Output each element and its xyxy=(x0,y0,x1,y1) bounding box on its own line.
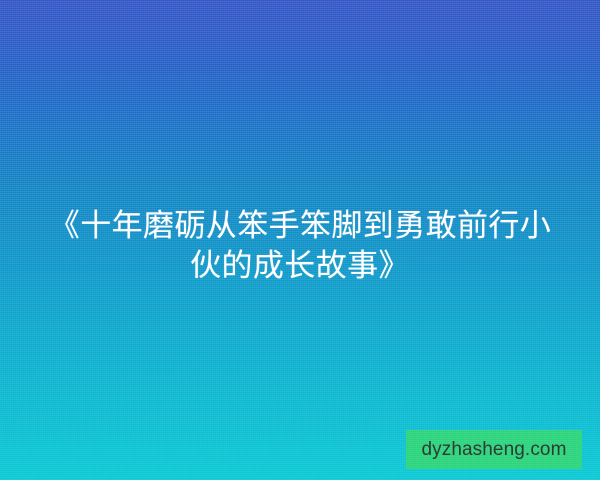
page-title: 《十年磨砺从笨手笨脚到勇敢前行小伙的成长故事》 xyxy=(36,206,564,286)
page-title-text: 《十年磨砺从笨手笨脚到勇敢前行小伙的成长故事》 xyxy=(36,206,564,286)
title-card-image: 《十年磨砺从笨手笨脚到勇敢前行小伙的成长故事》 dyzhasheng.com xyxy=(0,0,600,480)
watermark-domain-label: dyzhasheng.com xyxy=(421,440,566,459)
watermark-badge: dyzhasheng.com xyxy=(406,430,582,469)
